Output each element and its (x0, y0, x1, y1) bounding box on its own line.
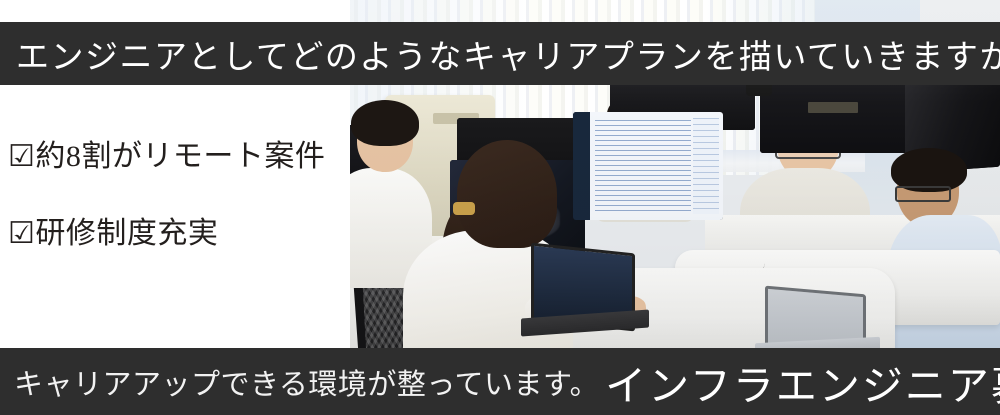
footer-band: キャリアアップできる環境が整っています。 インフラエンジニア募集 (0, 348, 1000, 415)
bullet-list: ☑約8割がリモート案件 ☑研修制度充実 (8, 140, 348, 250)
checkbox-icon: ☑ (8, 217, 35, 250)
footer-title-text: インフラエンジニア募集 (605, 352, 1000, 412)
glasses-icon (895, 186, 951, 202)
monitor-code (573, 112, 723, 220)
bullet-item-2: ☑研修制度充実 (8, 217, 348, 250)
headline-text: エンジニアとしてどのようなキャリアプランを描いていきますか (0, 30, 1000, 78)
bullet-label: 約8割がリモート案件 (35, 140, 325, 173)
checkbox-icon: ☑ (8, 140, 35, 173)
hair-clip (453, 202, 475, 215)
bullet-label: 研修制度充実 (35, 217, 218, 250)
person-front-hair (457, 140, 557, 248)
recruitment-banner: ☑約8割がリモート案件 ☑研修制度充実 エンジニアとしてどのようなキャリアプラン… (0, 0, 1000, 415)
person-left-hair (351, 100, 419, 146)
headline-band: エンジニアとしてどのようなキャリアプランを描いていきますか (0, 22, 1000, 85)
bullet-item-1: ☑約8割がリモート案件 (8, 140, 348, 173)
footer-lead-text: キャリアアップできる環境が整っています。 (0, 361, 599, 403)
